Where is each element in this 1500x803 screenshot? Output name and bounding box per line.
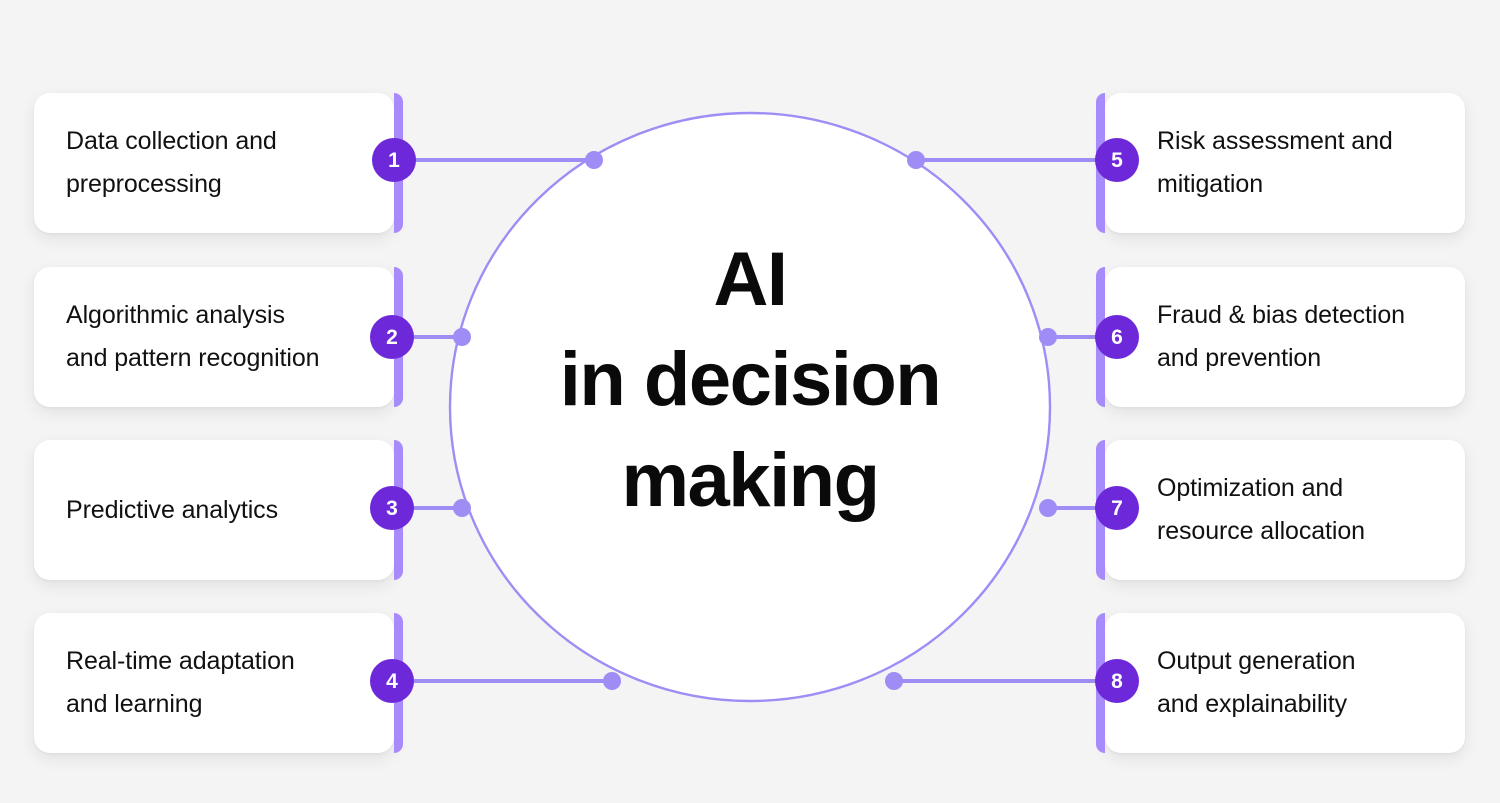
step-badge-7[interactable]: 7 [1095, 486, 1139, 530]
ring-dot-4 [603, 672, 621, 690]
step-badge-number: 5 [1111, 150, 1123, 171]
card-label: Risk assessment and mitigation [1105, 120, 1423, 206]
card-item-8[interactable]: Output generation and explainability [1105, 613, 1465, 753]
card-label: Optimization and resource allocation [1105, 467, 1395, 553]
card-label: Data collection and preprocessing [34, 120, 321, 206]
card-item-6[interactable]: Fraud & bias detection and prevention [1105, 267, 1465, 407]
step-badge-number: 8 [1111, 671, 1123, 692]
card-label: Output generation and explainability [1105, 640, 1385, 726]
step-badge-number: 6 [1111, 327, 1123, 348]
step-badge-5[interactable]: 5 [1095, 138, 1139, 182]
step-badge-number: 7 [1111, 498, 1123, 519]
step-badge-3[interactable]: 3 [370, 486, 414, 530]
ring-dot-8 [885, 672, 903, 690]
card-item-2[interactable]: Algorithmic analysis and pattern recogni… [34, 267, 394, 407]
card-label: Real-time adaptation and learning [34, 640, 339, 726]
card-item-3[interactable]: Predictive analytics [34, 440, 394, 580]
ring-dot-7 [1039, 499, 1057, 517]
step-badge-number: 2 [386, 327, 398, 348]
step-badge-number: 1 [388, 150, 400, 171]
step-badge-number: 4 [386, 671, 398, 692]
step-badge-number: 3 [386, 498, 398, 519]
card-label: Fraud & bias detection and prevention [1105, 294, 1435, 380]
step-badge-4[interactable]: 4 [370, 659, 414, 703]
infographic-canvas: AI in decision making Data collection an… [0, 0, 1500, 803]
card-label: Algorithmic analysis and pattern recogni… [34, 294, 363, 380]
step-badge-6[interactable]: 6 [1095, 315, 1139, 359]
card-item-4[interactable]: Real-time adaptation and learning [34, 613, 394, 753]
card-label: Predictive analytics [34, 489, 322, 532]
step-badge-1[interactable]: 1 [372, 138, 416, 182]
card-item-1[interactable]: Data collection and preprocessing [34, 93, 394, 233]
card-item-5[interactable]: Risk assessment and mitigation [1105, 93, 1465, 233]
card-item-7[interactable]: Optimization and resource allocation [1105, 440, 1465, 580]
step-badge-2[interactable]: 2 [370, 315, 414, 359]
step-badge-8[interactable]: 8 [1095, 659, 1139, 703]
center-title: AI in decision making [470, 230, 1030, 531]
